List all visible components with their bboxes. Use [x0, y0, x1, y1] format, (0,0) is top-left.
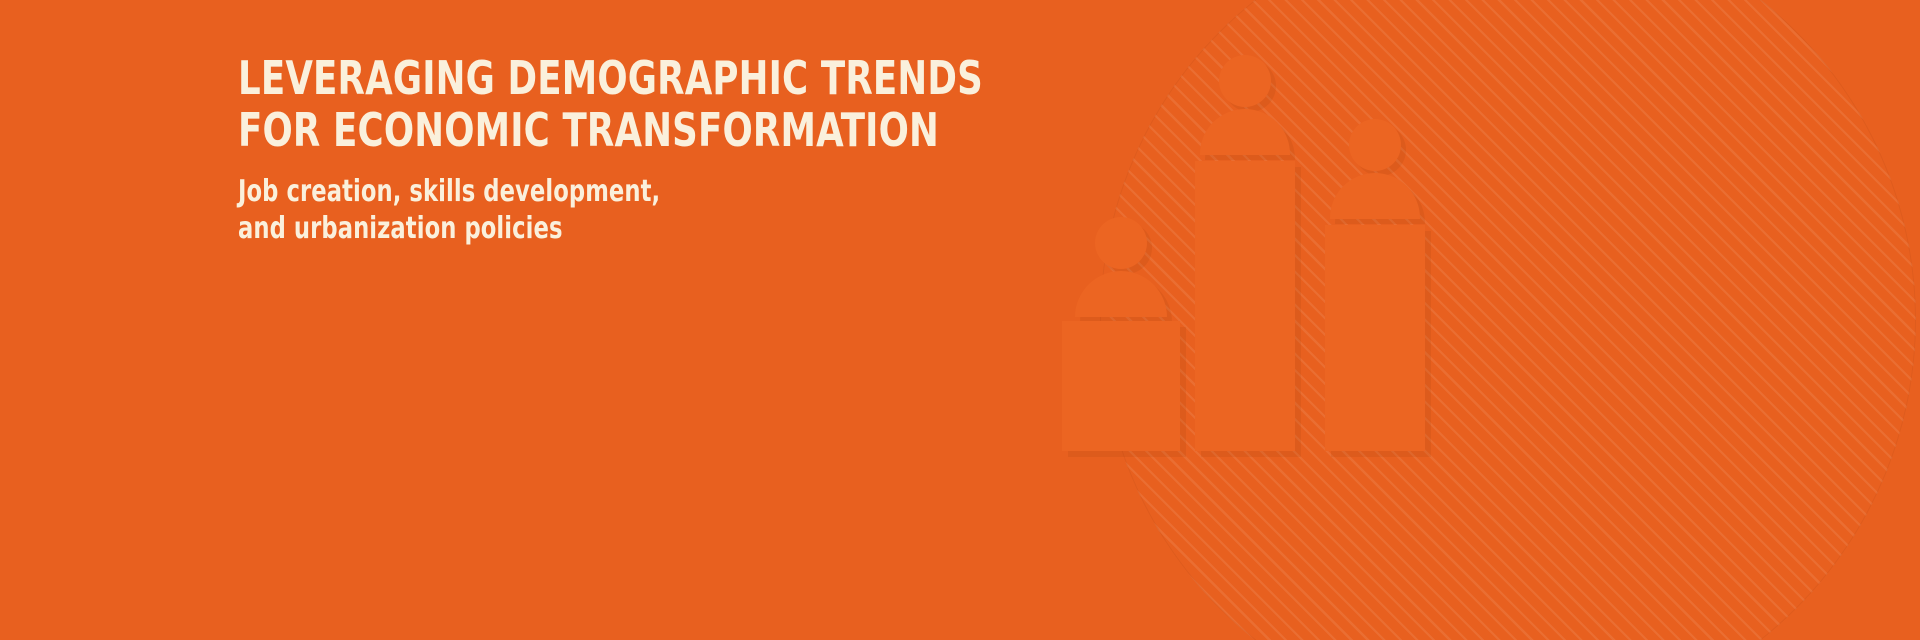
subtitle-line-1: Job creation, skills development, — [238, 173, 860, 210]
subtitle-line-2: and urbanization policies — [238, 210, 860, 247]
person-bar-figure-medium — [1325, 119, 1425, 451]
person-bar-figure-short — [1062, 217, 1180, 451]
bar-column-short — [1062, 321, 1180, 451]
person-head-icon — [1219, 55, 1271, 107]
banner-text-block: LEVERAGING DEMOGRAPHIC TRENDS FOR ECONOM… — [238, 52, 978, 247]
headline-line-2: FOR ECONOMIC TRANSFORMATION — [238, 104, 874, 156]
pictogram-bar-chart — [1055, 0, 1455, 640]
person-shoulders-icon — [1075, 271, 1167, 317]
bar-column-tall — [1195, 161, 1295, 451]
bar-column-medium — [1325, 225, 1425, 451]
person-shoulders-icon — [1330, 173, 1420, 219]
person-shoulders-icon — [1200, 109, 1290, 155]
page-title: LEVERAGING DEMOGRAPHIC TRENDS FOR ECONOM… — [238, 52, 978, 156]
person-head-icon — [1349, 119, 1401, 171]
person-bar-figure-tall — [1195, 55, 1295, 451]
headline-line-1: LEVERAGING DEMOGRAPHIC TRENDS — [238, 52, 874, 104]
hero-banner: LEVERAGING DEMOGRAPHIC TRENDS FOR ECONOM… — [0, 0, 1920, 640]
page-subtitle: Job creation, skills development, and ur… — [238, 173, 978, 247]
person-head-icon — [1095, 217, 1147, 269]
